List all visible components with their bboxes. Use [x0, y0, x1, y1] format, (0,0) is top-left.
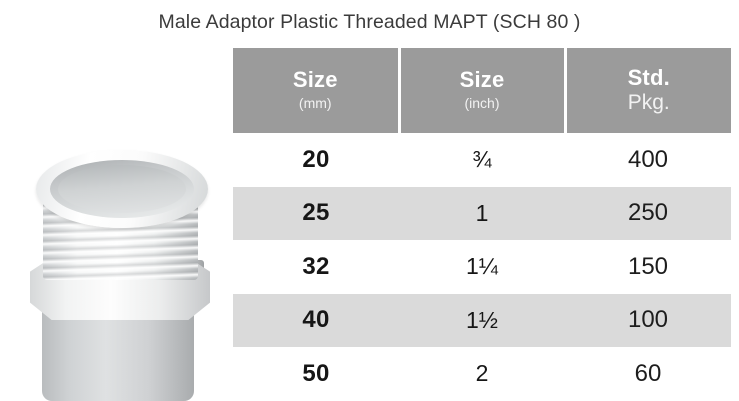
specification-table: Size (mm) Size (inch) Std. Pkg. 20 ¾ 400…: [233, 48, 731, 401]
cell-size-inch: 1¼: [399, 240, 565, 294]
table-row: 40 1½ 100: [233, 294, 731, 348]
cell-size-mm: 40: [233, 294, 399, 348]
column-header-std-pkg-main: Std.: [567, 66, 732, 91]
cell-std-pkg: 400: [565, 133, 731, 187]
table-header-row: Size (mm) Size (inch) Std. Pkg.: [233, 48, 731, 133]
table-row: 25 1 250: [233, 187, 731, 241]
column-header-size-inch-main: Size: [401, 68, 564, 93]
table-header: Size (mm) Size (inch) Std. Pkg.: [233, 48, 731, 133]
cell-size-mm: 25: [233, 187, 399, 241]
cell-size-mm: 50: [233, 347, 399, 401]
cell-size-inch: 1½: [399, 294, 565, 348]
cell-size-inch: 1: [399, 187, 565, 241]
page-title: Male Adaptor Plastic Threaded MAPT (SCH …: [0, 11, 739, 34]
table-row: 20 ¾ 400: [233, 133, 731, 187]
cell-std-pkg: 250: [565, 187, 731, 241]
rim-bore-shape: [58, 165, 186, 213]
cell-size-inch: ¾: [399, 133, 565, 187]
table-body: 20 ¾ 400 25 1 250 32 1¼ 150 40 1½ 100 50…: [233, 133, 731, 401]
column-header-size-inch-unit: (inch): [401, 94, 564, 113]
pvc-male-adaptor-illustration: [22, 148, 222, 401]
cell-size-mm: 20: [233, 133, 399, 187]
product-image: [22, 148, 222, 401]
column-header-size-mm-unit: (mm): [233, 94, 398, 113]
table-row: 32 1¼ 150: [233, 240, 731, 294]
cell-std-pkg: 100: [565, 294, 731, 348]
cell-size-mm: 32: [233, 240, 399, 294]
column-header-size-inch: Size (inch): [399, 48, 565, 133]
column-header-size-mm: Size (mm): [233, 48, 399, 133]
column-header-std-pkg-sub: Pkg.: [567, 90, 732, 115]
cell-std-pkg: 150: [565, 240, 731, 294]
cell-std-pkg: 60: [565, 347, 731, 401]
table-row: 50 2 60: [233, 347, 731, 401]
column-header-size-mm-main: Size: [233, 68, 398, 93]
cell-size-inch: 2: [399, 347, 565, 401]
column-header-std-pkg: Std. Pkg.: [565, 48, 731, 133]
